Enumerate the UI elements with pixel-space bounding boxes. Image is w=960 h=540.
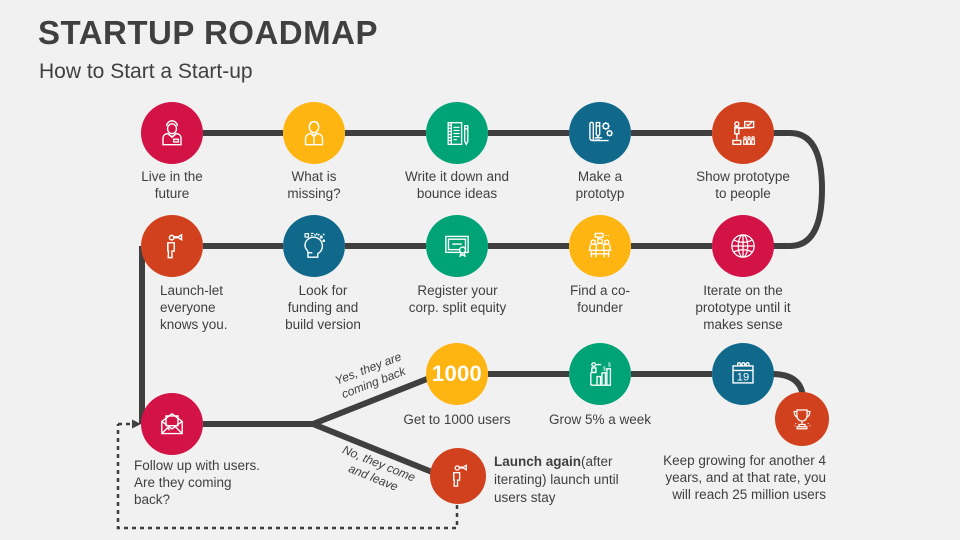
svg-text:$: $ bbox=[602, 366, 605, 372]
caption-make-a-prototype: Make a prototyp bbox=[540, 168, 660, 202]
blueprint-gears-icon bbox=[583, 116, 617, 150]
circle-follow-up-with-users[interactable] bbox=[141, 393, 203, 455]
circle-live-in-the-future[interactable] bbox=[141, 102, 203, 164]
circle-look-for-funding[interactable] bbox=[283, 215, 345, 277]
circle-show-prototype[interactable] bbox=[712, 102, 774, 164]
growth-chart-icon: $ $ bbox=[584, 358, 617, 391]
circle-write-it-down[interactable] bbox=[426, 102, 488, 164]
circle-make-a-prototype[interactable] bbox=[569, 102, 631, 164]
caption-iterate-on-prototype: Iterate on the prototype until it makes … bbox=[668, 282, 818, 333]
circle-what-is-missing[interactable] bbox=[283, 102, 345, 164]
circle-trophy[interactable] bbox=[775, 392, 829, 446]
calendar-icon: 19 bbox=[726, 357, 760, 391]
caption-look-for-funding: Look for funding and build version bbox=[268, 282, 378, 333]
launch-again-bold-text: Launch again bbox=[494, 454, 581, 469]
caption-register-your-corp: Register your corp. split equity bbox=[385, 282, 530, 316]
notebook-pencil-icon bbox=[441, 117, 474, 150]
caption-what-is-missing: What is missing? bbox=[254, 168, 374, 202]
idea-head-icon bbox=[297, 229, 331, 263]
svg-text:$: $ bbox=[607, 362, 610, 368]
open-envelope-icon bbox=[155, 407, 189, 441]
presentation-audience-icon bbox=[726, 116, 760, 150]
caption-follow-up-with-users: Follow up with users. Are they coming ba… bbox=[134, 457, 304, 508]
circle-iterate-on-prototype[interactable] bbox=[712, 215, 774, 277]
megaphone-person-icon bbox=[443, 461, 473, 491]
caption-live-in-the-future: Live in the future bbox=[112, 168, 232, 202]
circle-launch-let-everyone[interactable] bbox=[141, 215, 203, 277]
circle-grow-5-percent[interactable]: $ $ bbox=[569, 343, 631, 405]
circle-register-your-corp[interactable] bbox=[426, 215, 488, 277]
certificate-icon bbox=[440, 229, 474, 263]
megaphone-person-icon bbox=[156, 230, 189, 263]
circle-launch-again[interactable] bbox=[430, 448, 486, 504]
svg-text:19: 19 bbox=[737, 371, 749, 383]
users-count-text: 1000 bbox=[432, 361, 482, 387]
engineer-icon bbox=[155, 116, 189, 150]
circle-get-to-1000-users[interactable]: 1000 bbox=[426, 343, 488, 405]
caption-grow-5-percent: Grow 5% a week bbox=[540, 411, 660, 428]
team-meeting-icon bbox=[583, 229, 617, 263]
globe-icon bbox=[726, 229, 760, 263]
businessman-icon bbox=[297, 116, 331, 150]
caption-launch-again: Launch again(after iterating) launch unt… bbox=[494, 453, 626, 507]
circle-keep-growing[interactable]: 19 bbox=[712, 343, 774, 405]
caption-show-prototype: Show prototype to people bbox=[678, 168, 808, 202]
infographic-canvas: STARTUP ROADMAP How to Start a Start-up bbox=[0, 0, 960, 540]
trophy-icon bbox=[787, 404, 817, 434]
circle-find-a-co-founder[interactable] bbox=[569, 215, 631, 277]
caption-get-to-1000-users: Get to 1000 users bbox=[392, 411, 522, 428]
caption-keep-growing: Keep growing for another 4 years, and at… bbox=[620, 452, 826, 503]
caption-find-a-co-founder: Find a co- founder bbox=[540, 282, 660, 316]
caption-write-it-down: Write it down and bounce ideas bbox=[386, 168, 528, 202]
caption-launch-let-everyone: Launch-let everyone knows you. bbox=[160, 282, 270, 333]
